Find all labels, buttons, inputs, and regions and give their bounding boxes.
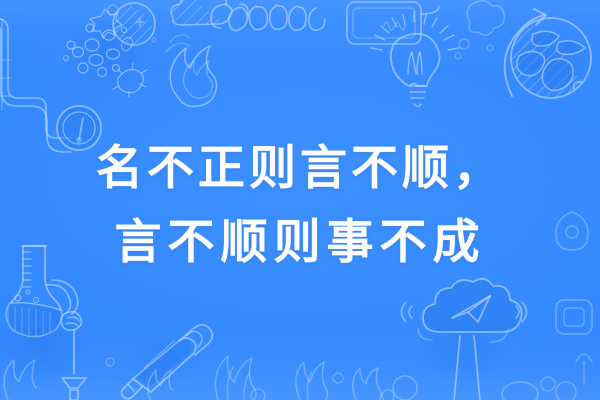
- cloud-lightning-icon: [402, 279, 527, 400]
- thought-bubble-icon: [455, 1, 504, 59]
- leaf-icon: [4, 356, 381, 400]
- dropper-stand-icon: [61, 312, 86, 400]
- flame-icon: [166, 35, 217, 107]
- quote-line-1: 名不正则言不顺，: [0, 131, 600, 205]
- quote-line-2: 言不顺则事不成: [0, 205, 600, 279]
- microbe-cluster-icon: [64, 3, 159, 97]
- rounded-frame-icon: [347, 2, 439, 44]
- coil-spring-icon: [211, 4, 325, 31]
- globe-icon: [497, 18, 591, 132]
- rounded-square-icon: [556, 300, 592, 334]
- fountain-pen-icon: [122, 325, 213, 399]
- quote-text: 名不正则言不顺， 言不顺则事不成: [0, 131, 600, 279]
- hatched-cloud-icon: [166, 0, 232, 46]
- quote-card: 名不正则言不顺， 言不顺则事不成: [0, 0, 600, 400]
